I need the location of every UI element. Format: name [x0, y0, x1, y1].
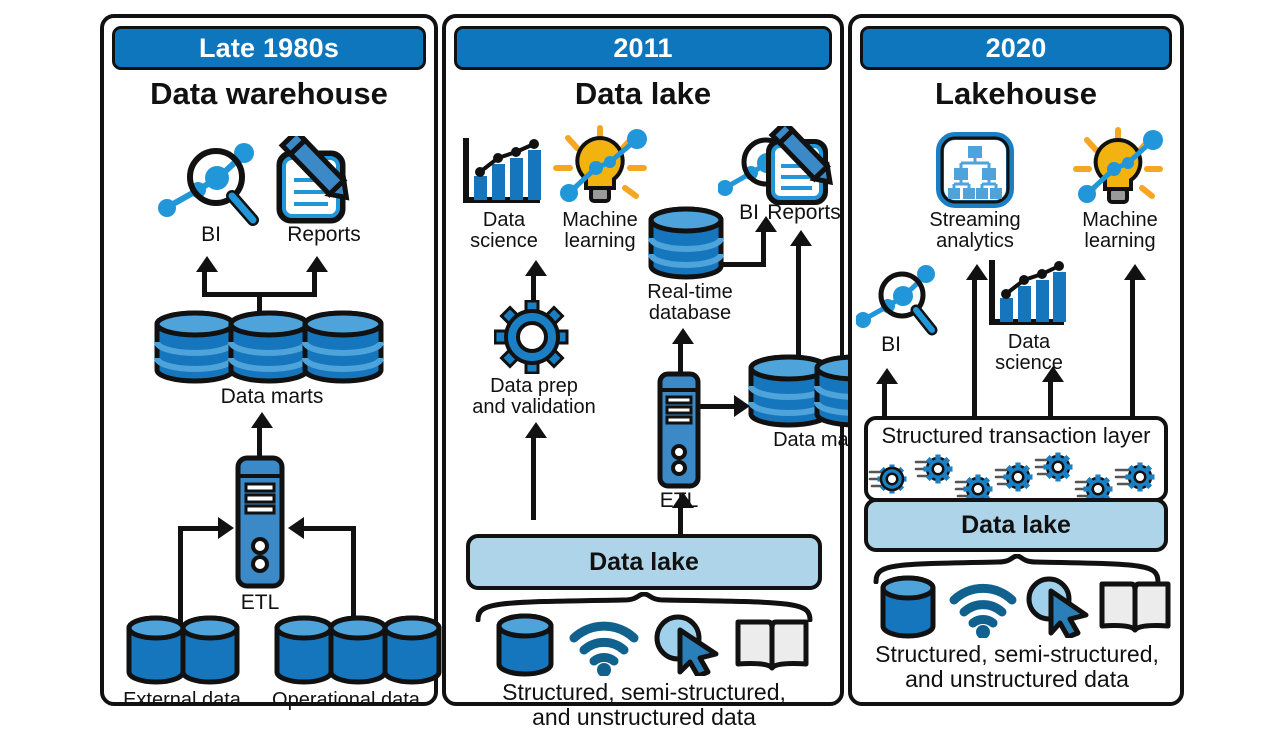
reports-document-pencil-icon	[764, 126, 848, 211]
data-marts-cylinders	[152, 310, 388, 386]
lightbulb-icon	[548, 124, 652, 221]
structured-transaction-layer: Structured transaction layer	[864, 416, 1168, 502]
etl-label: ETL	[200, 592, 320, 614]
operational-feed-horizontal	[304, 526, 353, 531]
database-cylinder-icon	[878, 574, 940, 645]
arrow-lake-to-gear-shaft	[531, 436, 536, 520]
sources-label: Structured, semi-structured, and unstruc…	[852, 642, 1182, 693]
external-feed-arrowhead	[218, 517, 234, 539]
machine-learning-label: Machine learning	[538, 210, 662, 252]
etl-server-icon	[656, 370, 702, 495]
panel-header-2020: 2020	[860, 26, 1172, 70]
diagram-canvas: Late 1980s Data warehouse BI	[0, 0, 1280, 720]
etl-to-rtdb-head	[672, 328, 694, 344]
cursor-click-icon	[1024, 576, 1096, 643]
panel-era-label: 2011	[613, 33, 672, 64]
wifi-icon	[948, 580, 1018, 643]
arrow-lake-to-gear-head	[525, 422, 547, 438]
data-science-label: Data science	[974, 332, 1084, 374]
reports-label: Reports	[264, 224, 384, 246]
open-book-icon	[1098, 576, 1172, 641]
etl-to-marts-horizontal	[700, 404, 738, 409]
reports-document-pencil-icon	[274, 136, 370, 229]
database-cylinder-icon	[494, 612, 558, 683]
real-time-database-label: Real-time database	[624, 282, 756, 324]
panel-title-data-warehouse: Data warehouse	[104, 76, 434, 112]
arrow-head-to-bi	[196, 256, 218, 272]
panel-body-data-warehouse: BI Reports	[104, 114, 434, 698]
panel-title-data-lake: Data lake	[446, 76, 840, 112]
bi-magnifier-icon	[158, 136, 262, 231]
arrow-gear-to-science-head	[525, 260, 547, 276]
operational-data-label: Operational data	[256, 690, 436, 711]
arrow-to-data-science-shaft	[1048, 380, 1053, 420]
gear-icon	[494, 300, 570, 379]
data-marts-label: Data marts	[162, 386, 382, 408]
data-prep-label: Data prep and validation	[446, 376, 622, 418]
open-book-icon	[734, 614, 810, 679]
streaming-analytics-label: Streaming analytics	[904, 210, 1046, 252]
etl-server-icon	[234, 454, 286, 595]
arrow-to-bi-shaft	[882, 382, 887, 420]
external-data-label: External data	[104, 690, 260, 711]
arrow-gear-to-science-shaft	[531, 274, 536, 302]
bi-label: BI	[856, 334, 926, 356]
panel-header-2011: 2011	[454, 26, 832, 70]
bi-label: BI	[146, 224, 276, 246]
panel-body-lakehouse: Streaming analytics	[852, 114, 1180, 698]
panel-data-warehouse: Late 1980s Data warehouse BI	[100, 14, 438, 706]
cursor-click-icon	[652, 614, 726, 681]
arrow-head-to-reports	[306, 256, 328, 272]
operational-data-cylinders	[272, 614, 444, 688]
structured-transaction-layer-label: Structured transaction layer	[868, 423, 1164, 449]
external-data-cylinders	[124, 614, 242, 688]
rtdb-to-bi-horizontal	[722, 262, 766, 267]
reports-label: Reports	[758, 202, 850, 224]
rtdb-to-bi-riser	[761, 230, 766, 265]
panel-title-lakehouse: Lakehouse	[852, 76, 1180, 112]
bi-magnifier-icon	[856, 262, 940, 341]
lightbulb-icon	[1068, 126, 1168, 221]
arrow-to-streaming-head	[966, 264, 988, 280]
data-lake-bar: Data lake	[466, 534, 822, 590]
arrow-to-ml-head	[1124, 264, 1146, 280]
machine-learning-label: Machine learning	[1060, 210, 1180, 252]
marts-to-reports-head	[790, 230, 812, 246]
wifi-icon	[568, 618, 640, 681]
arrow-to-data-science-head	[1042, 366, 1064, 382]
panel-body-data-lake: Data science	[446, 114, 840, 698]
external-feed-horizontal	[178, 526, 222, 531]
data-lake-label: Data lake	[961, 511, 1071, 540]
panel-era-label: Late 1980s	[199, 33, 339, 64]
panel-lakehouse: 2020 Lakehouse	[848, 14, 1184, 706]
operational-feed-arrowhead	[288, 517, 304, 539]
arrow-head-etl-to-marts	[251, 412, 273, 428]
arrow-to-streaming-shaft	[972, 278, 977, 420]
arrow-to-ml-shaft	[1130, 278, 1135, 420]
bar-chart-icon	[460, 132, 544, 215]
sources-label: Structured, semi-structured, and unstruc…	[446, 680, 842, 731]
arrow-to-bi-head	[876, 368, 898, 384]
lake-to-etl-head	[672, 492, 694, 508]
panel-era-label: 2020	[986, 33, 1047, 64]
data-lake-bar: Data lake	[864, 498, 1168, 552]
bar-chart-icon	[986, 256, 1068, 337]
hierarchy-icon	[936, 132, 1014, 213]
panel-data-lake: 2011 Data lake Data science	[442, 14, 844, 706]
etl-to-rtdb-shaft	[678, 342, 683, 372]
panel-header-late-1980s: Late 1980s	[112, 26, 426, 70]
data-lake-label: Data lake	[589, 548, 699, 577]
